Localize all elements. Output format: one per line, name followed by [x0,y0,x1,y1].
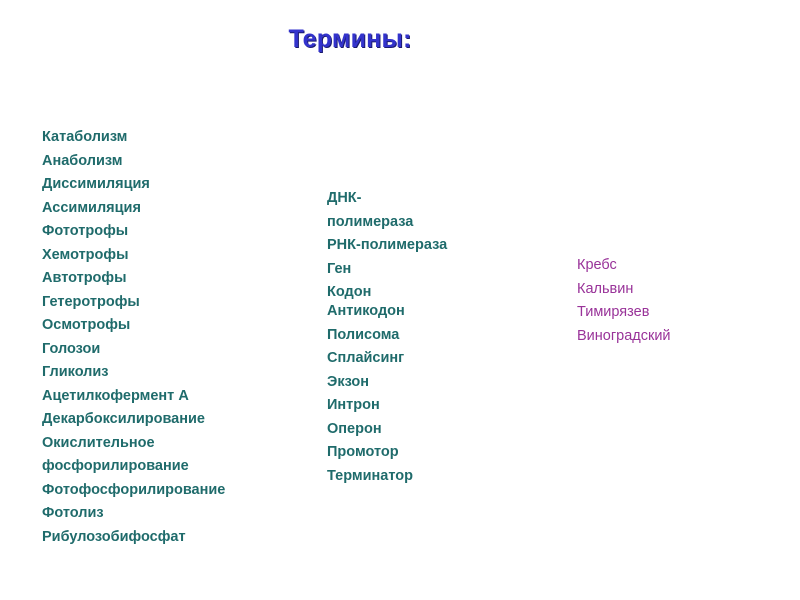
list-item: Рибулозобифосфат [42,526,294,550]
genetics-term-list-upper: ДНК-полимераза РНК-полимераза Ген Кодон [327,187,497,305]
list-item: Терминатор [327,465,497,489]
list-item: Промотор [327,441,497,465]
list-item: Гликолиз [42,361,294,385]
list-item: Кребс [577,254,757,278]
list-item: Катаболизм [42,126,294,150]
list-item: Ацетилкофермент А [42,385,294,409]
list-item: Осмотрофы [42,314,294,338]
genetics-term-list-lower: Антикодон Полисома Сплайсинг Экзон Интро… [327,300,497,488]
list-item: Ассимиляция [42,197,294,221]
list-item: Антикодон [327,300,497,324]
list-item: Тимирязев [577,301,757,325]
list-item: Анаболизм [42,150,294,174]
scientist-name-list: Кребс Кальвин Тимирязев Виноградский [577,254,757,348]
metabolism-term-list: Катаболизм Анаболизм Диссимиляция Ассими… [42,126,294,549]
list-item: Автотрофы [42,267,294,291]
list-item: Полисома [327,324,497,348]
list-item: ДНК-полимераза [327,187,432,234]
list-item: Хемотрофы [42,244,294,268]
list-item: Голозои [42,338,294,362]
list-item: Экзон [327,371,497,395]
list-item: Сплайсинг [327,347,497,371]
list-item: Оперон [327,418,497,442]
list-item: Интрон [327,394,497,418]
list-item: Фототрофы [42,220,294,244]
list-item: Фотолиз [42,502,294,526]
list-item: РНК-полимераза [327,234,497,258]
list-item: Окислительное [42,432,294,456]
slide-canvas: Термины: Катаболизм Анаболизм Диссимиляц… [0,0,800,600]
page-title: Термины: [0,25,700,54]
list-item: Декарбоксилирование [42,408,294,432]
list-item: фосфорилирование [42,455,294,479]
list-item: Виноградский [577,325,757,349]
list-item: Гетеротрофы [42,291,294,315]
list-item: Фотофосфорилирование [42,479,294,503]
list-item: Кальвин [577,278,757,302]
list-item: Ген [327,258,497,282]
list-item: Диссимиляция [42,173,294,197]
